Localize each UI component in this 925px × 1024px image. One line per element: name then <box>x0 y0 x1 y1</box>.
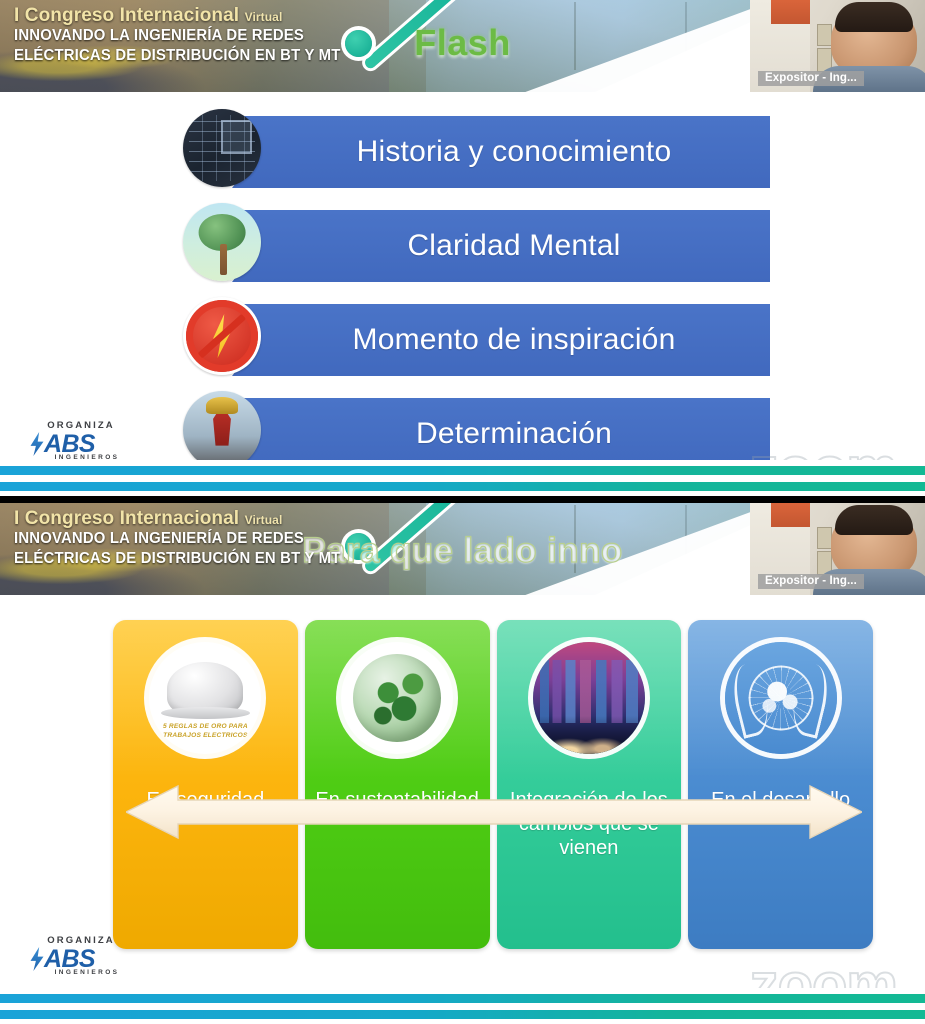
logo-abs-wordmark: ABS <box>44 945 95 974</box>
un-wreath-left <box>726 662 775 740</box>
tree-icon <box>183 203 261 281</box>
concept-bar-inspiracion[interactable]: Momento de inspiración <box>232 304 770 376</box>
concept-bar-row: Historia y conocimiento <box>0 105 925 199</box>
bidirectional-arrow-icon <box>126 784 862 840</box>
header-subtitle-line-1: INNOVANDO LA INGENIERÍA DE REDES <box>14 26 341 46</box>
concept-bar-row: Momento de inspiración <box>0 293 925 387</box>
presenter-hair <box>835 505 913 535</box>
congress-virtual-tag: Virtual <box>245 10 283 24</box>
concept-bar-row: Claridad Mental <box>0 199 925 293</box>
concept-bar-label: Momento de inspiración <box>327 323 676 357</box>
abs-organizer-logo: ORGANIZA ABS INGENIEROS <box>26 935 122 976</box>
congress-title: I Congreso Internacional <box>14 508 239 529</box>
city-lights-icon <box>533 642 645 754</box>
header-title-block: I Congreso Internacional Virtual INNOVAN… <box>14 6 354 66</box>
presenter-name-label: Expositor - Ing... <box>758 71 864 86</box>
united-nations-emblem-icon <box>725 642 837 754</box>
climber-icon <box>183 391 261 469</box>
presenter-video-tile[interactable]: Expositor - Ing... <box>750 503 925 595</box>
green-globe-icon <box>341 642 453 754</box>
slide-footer-stripes <box>0 988 925 1024</box>
presenter-video-tile[interactable]: Expositor - Ing... <box>750 0 925 92</box>
presentation-slide-para-que-lado: I Congreso Internacional Virtual INNOVAN… <box>0 503 925 1024</box>
concept-bar-claridad[interactable]: Claridad Mental <box>232 210 770 282</box>
logo-abs-wordmark: ABS <box>44 430 95 459</box>
header-title-line-1: I Congreso Internacional Virtual <box>14 6 354 26</box>
congress-title: I Congreso Internacional <box>14 5 239 26</box>
concept-bar-label: Historia y conocimiento <box>331 135 672 169</box>
presenter-name-label: Expositor - Ing... <box>758 574 864 589</box>
un-wreath-right <box>786 662 835 740</box>
safety-helmet-icon: 5 REGLAS DE ORO PARA TRABAJOS ELECTRICOS <box>149 642 261 754</box>
footer-stripe-upper <box>0 994 925 1003</box>
header-subtitle-line-1: INNOVANDO LA INGENIERÍA DE REDES <box>14 529 341 549</box>
presentation-slide-flash: I Congreso Internacional Virtual INNOVAN… <box>0 0 925 496</box>
footer-stripe-upper <box>0 466 925 475</box>
header-subtitle-line-2: ELÉCTRICAS DE DISTRIBUCIÓN EN BT Y MT <box>14 46 341 66</box>
header-title-line-1: I Congreso Internacional Virtual <box>14 509 354 529</box>
helmet-caption: 5 REGLAS DE ORO PARA TRABAJOS ELECTRICOS <box>149 722 261 742</box>
header-subtitle-line-2: ELÉCTRICAS DE DISTRIBUCIÓN EN BT Y MT <box>14 549 341 569</box>
header-title-block: I Congreso Internacional Virtual INNOVAN… <box>14 509 354 569</box>
abs-organizer-logo: ORGANIZA ABS INGENIEROS <box>26 420 122 461</box>
presenter-hair <box>835 2 913 32</box>
concept-bar-label: Determinación <box>390 417 612 451</box>
flash-bolt-icon <box>183 297 261 375</box>
concept-bar-label: Claridad Mental <box>381 229 620 263</box>
blueprint-icon <box>183 109 261 187</box>
footer-stripe-lower <box>0 482 925 491</box>
footer-stripe-lower <box>0 1010 925 1019</box>
slide-footer-stripes <box>0 460 925 496</box>
zoom-screen-share-capture: I Congreso Internacional Virtual INNOVAN… <box>0 0 925 1024</box>
concept-bars-list: Historia y conocimiento Claridad Mental … <box>0 105 925 481</box>
congress-virtual-tag: Virtual <box>245 513 283 527</box>
concept-bar-historia[interactable]: Historia y conocimiento <box>232 116 770 188</box>
